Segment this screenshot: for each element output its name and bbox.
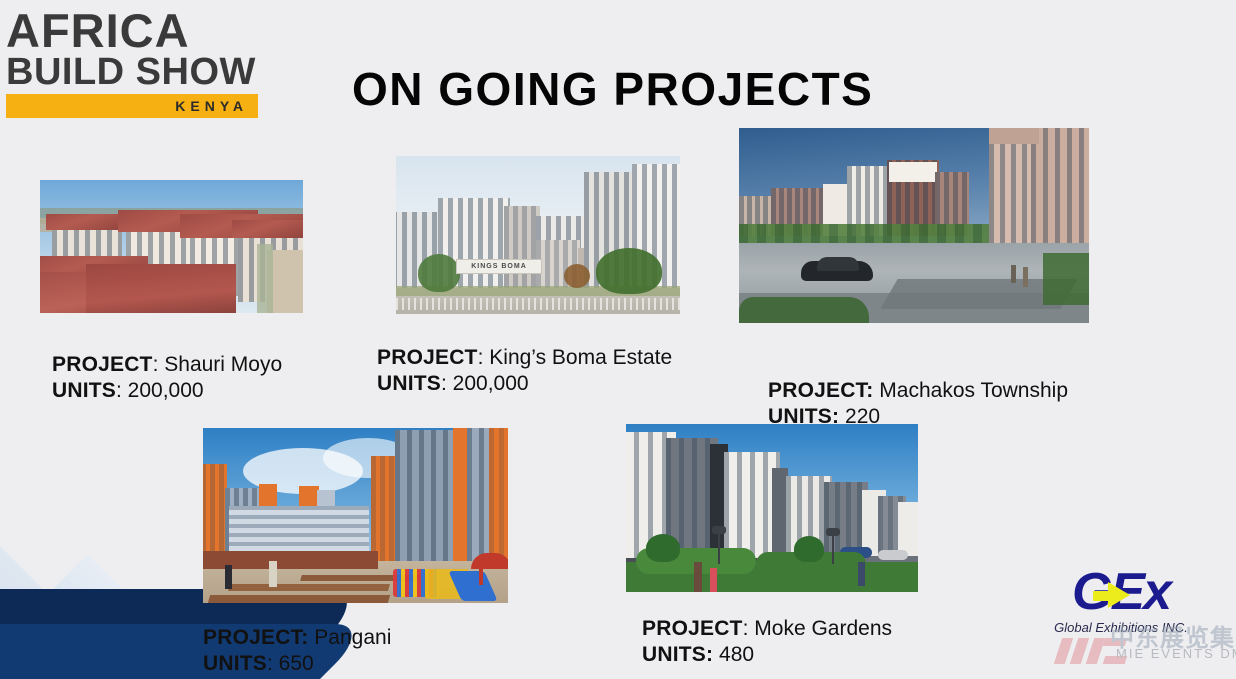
- units-value: 480: [719, 643, 754, 666]
- logo-country-label: KENYA: [175, 98, 258, 114]
- project-caption-kings-boma: PROJECT: King’s Boma Estate UNITS: 200,0…: [377, 345, 672, 396]
- kings-boma-sign: KINGS BOMA: [456, 259, 542, 274]
- project-name: King’s Boma Estate: [489, 346, 672, 369]
- decor-stripe-pale-blue: [0, 524, 46, 679]
- gex-arrow-icon: [1108, 582, 1130, 608]
- gex-wordmark: GEx: [1046, 566, 1196, 618]
- units-value: 200,000: [453, 372, 529, 395]
- units-label: UNITS: [52, 379, 116, 402]
- africa-build-show-logo: AFRICA BUILD SHOW KENYA: [6, 8, 258, 118]
- project-label: PROJECT:: [203, 626, 308, 649]
- project-separator: :: [153, 353, 165, 376]
- project-label: PROJECT:: [768, 379, 873, 402]
- project-caption-machakos-township: PROJECT: Machakos Township UNITS: 220: [768, 378, 1068, 429]
- project-caption-shauri-moyo: PROJECT: Shauri Moyo UNITS: 200,000: [52, 352, 282, 403]
- decor-stripe-mid-blue: [0, 554, 128, 679]
- project-label: PROJECT: [642, 617, 743, 640]
- project-separator: :: [478, 346, 490, 369]
- project-photo-kings-boma: KINGS BOMA: [396, 156, 680, 314]
- project-photo-shauri-moyo: [40, 180, 303, 313]
- project-photo-moke-gardens: [626, 424, 918, 592]
- project-name: Machakos Township: [879, 379, 1068, 402]
- mie-english-name: MIE EVENTS DMCC: [1116, 646, 1236, 661]
- units-label: UNITS: [203, 652, 267, 675]
- page-title: ON GOING PROJECTS: [352, 62, 873, 116]
- units-separator: :: [116, 379, 128, 402]
- units-label: UNITS:: [642, 643, 713, 666]
- mie-watermark: 中东展览集团 MIE EVENTS DMCC: [1058, 622, 1236, 670]
- decor-stripe-thin-blue: [0, 589, 189, 679]
- logo-line-build-show: BUILD SHOW: [6, 53, 258, 91]
- project-label: PROJECT: [52, 353, 153, 376]
- project-separator: :: [743, 617, 755, 640]
- slide-canvas: AFRICA BUILD SHOW KENYA ON GOING PROJECT…: [0, 0, 1236, 679]
- project-label: PROJECT: [377, 346, 478, 369]
- project-name: Moke Gardens: [754, 617, 892, 640]
- units-label: UNITS: [377, 372, 441, 395]
- logo-yellow-bar: KENYA: [6, 94, 258, 118]
- project-caption-pangani: PROJECT: Pangani UNITS: 650: [203, 625, 391, 676]
- units-separator: :: [441, 372, 453, 395]
- logo-line-africa: AFRICA: [6, 8, 258, 53]
- units-value: 650: [279, 652, 314, 675]
- units-value: 200,000: [128, 379, 204, 402]
- project-photo-pangani: [203, 428, 508, 603]
- units-separator: :: [267, 652, 279, 675]
- project-photo-machakos-township: [739, 128, 1089, 323]
- project-name: Pangani: [314, 626, 391, 649]
- project-name: Shauri Moyo: [164, 353, 282, 376]
- project-caption-moke-gardens: PROJECT: Moke Gardens UNITS: 480: [642, 616, 892, 667]
